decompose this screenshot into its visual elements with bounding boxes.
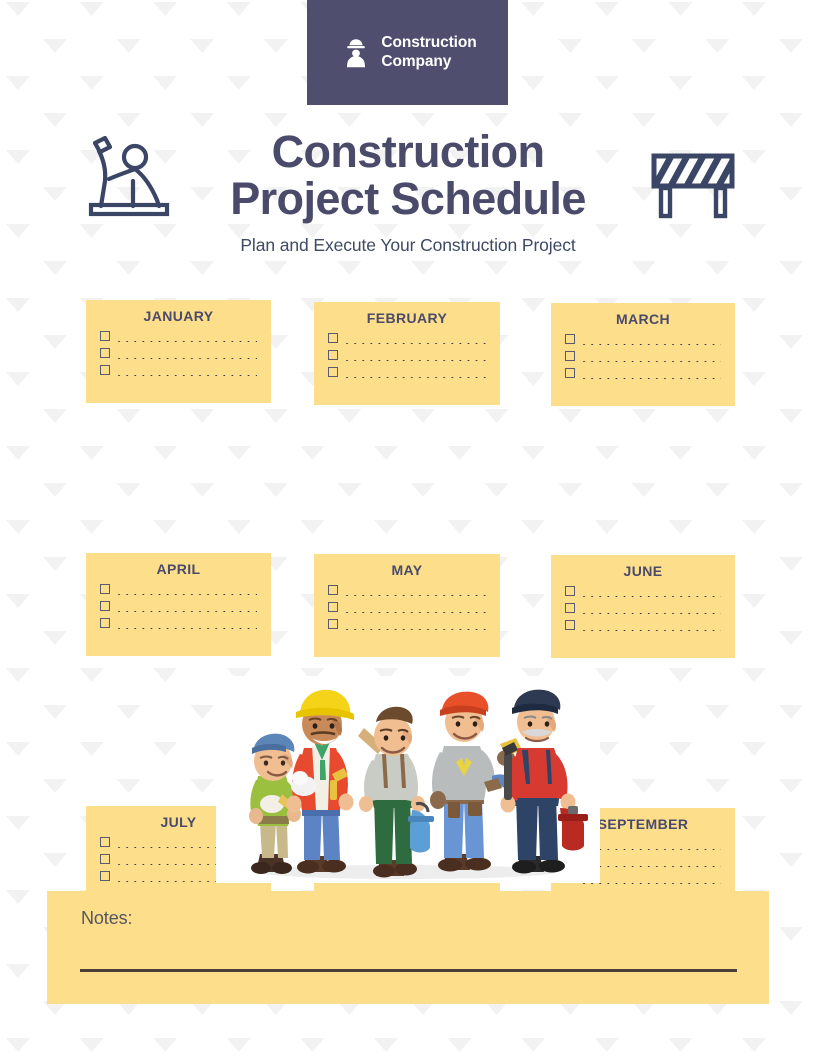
task-row[interactable]: [100, 365, 257, 375]
task-dotted-line[interactable]: [115, 339, 257, 342]
month-card-february[interactable]: FEBRUARY: [314, 302, 500, 405]
notes-panel[interactable]: Notes:: [47, 891, 769, 1004]
task-checkbox[interactable]: [565, 368, 575, 378]
title-area: Construction Project Schedule Plan and E…: [0, 118, 816, 263]
month-title: FEBRUARY: [328, 310, 486, 326]
month-row-3: JULY AUGUST: [0, 554, 816, 681]
task-checkbox[interactable]: [100, 348, 110, 358]
month-row-2: APRIL MAY: [0, 427, 816, 554]
task-dotted-line[interactable]: [580, 864, 721, 867]
task-checkbox[interactable]: [100, 837, 110, 847]
task-checkbox[interactable]: [328, 367, 338, 377]
task-dotted-line[interactable]: [343, 358, 486, 361]
construction-worker-icon: [342, 38, 370, 68]
task-dotted-line[interactable]: [580, 847, 721, 850]
task-dotted-line[interactable]: [580, 342, 721, 345]
task-dotted-line[interactable]: [115, 356, 257, 359]
task-row[interactable]: [100, 331, 257, 341]
company-name: Construction Company: [381, 34, 476, 71]
task-row[interactable]: [565, 351, 721, 361]
task-checkbox[interactable]: [328, 350, 338, 360]
page-subtitle: Plan and Execute Your Construction Proje…: [0, 223, 816, 256]
task-dotted-line[interactable]: [580, 376, 721, 379]
company-banner: Construction Company: [307, 0, 508, 105]
task-dotted-line[interactable]: [580, 881, 721, 884]
company-name-line2: Company: [381, 53, 476, 71]
notes-writing-line[interactable]: [80, 969, 737, 972]
task-checkbox[interactable]: [100, 365, 110, 375]
task-row[interactable]: [100, 348, 257, 358]
company-name-line1: Construction: [381, 34, 476, 52]
task-checkbox[interactable]: [100, 854, 110, 864]
task-row[interactable]: [565, 334, 721, 344]
notes-label: Notes:: [81, 908, 132, 929]
task-row[interactable]: [328, 333, 486, 343]
month-card-january[interactable]: JANUARY: [86, 300, 271, 403]
task-dotted-line[interactable]: [343, 375, 486, 378]
crane-icon: [83, 134, 175, 220]
task-dotted-line[interactable]: [115, 373, 257, 376]
task-checkbox[interactable]: [100, 871, 110, 881]
task-checkbox[interactable]: [565, 334, 575, 344]
task-row[interactable]: [565, 368, 721, 378]
task-checkbox[interactable]: [565, 351, 575, 361]
task-dotted-line[interactable]: [580, 359, 721, 362]
construction-project-schedule-page: Construction Company Construction Projec…: [0, 0, 816, 1056]
month-row-1: JANUARY FEBRUARY: [0, 300, 816, 427]
month-card-march[interactable]: MARCH: [551, 303, 735, 406]
task-row[interactable]: [328, 367, 486, 377]
task-checkbox[interactable]: [100, 331, 110, 341]
month-grid: JANUARY FEBRUARY: [0, 300, 816, 681]
page-title-line2: Project Schedule: [230, 173, 586, 224]
task-dotted-line[interactable]: [343, 341, 486, 344]
month-title: JANUARY: [100, 308, 257, 324]
road-barrier-icon: [648, 151, 738, 219]
task-row[interactable]: [328, 350, 486, 360]
task-checkbox[interactable]: [328, 333, 338, 343]
month-title: MARCH: [565, 311, 721, 327]
page-title-line1: Construction: [272, 126, 545, 177]
construction-workers-photo: [216, 676, 600, 883]
